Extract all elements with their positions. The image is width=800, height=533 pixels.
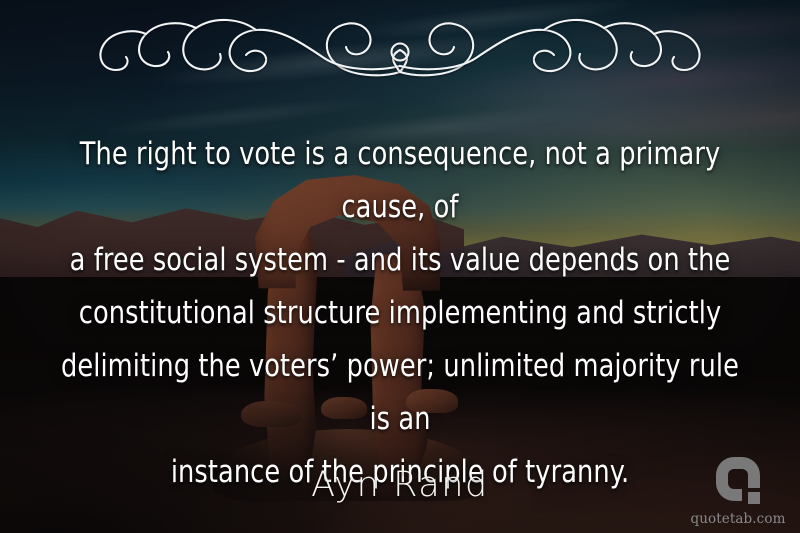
quote-card: The right to vote is a consequence, not … — [0, 0, 800, 533]
quote-text: The right to vote is a consequence, not … — [60, 128, 741, 499]
watermark-site-text[interactable]: quotetab.com — [690, 512, 786, 527]
quote-author: Ayn Rand — [0, 465, 800, 505]
quotetab-q-logo-icon[interactable] — [710, 455, 766, 511]
watermark[interactable]: quotetab.com — [690, 455, 786, 527]
